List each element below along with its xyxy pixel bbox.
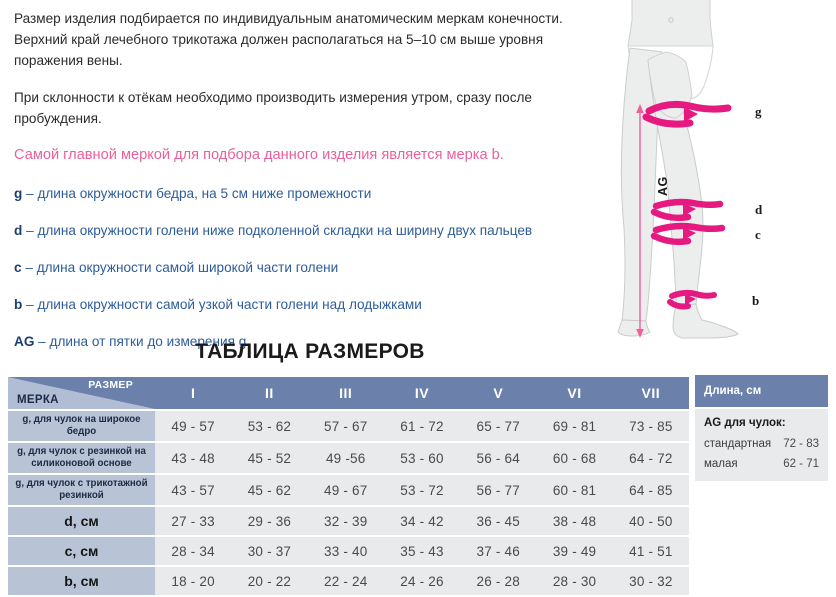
- cell-r4-c4: 37 - 46: [460, 537, 536, 565]
- cell-r0-c0: 49 - 57: [155, 411, 231, 441]
- cell-r1-c4: 56 - 64: [460, 443, 536, 473]
- definition-b: b – длина окружности самой узкой части г…: [14, 295, 614, 315]
- column-header-5: V: [460, 377, 536, 409]
- definition-g: g – длина окружности бедра, на 5 см ниже…: [14, 184, 614, 204]
- instructions-section: Размер изделия подбирается по индивидуал…: [0, 0, 836, 336]
- cell-r5-c3: 24 - 26: [384, 567, 460, 595]
- cell-r4-c2: 33 - 40: [308, 537, 384, 565]
- definition-c: c – длина окружности самой широкой части…: [14, 258, 614, 278]
- length-panel: Длина, см AG для чулок: стандартная 72 -…: [695, 375, 828, 481]
- row-label-g-wide-thigh: g, для чулок на широкое бедро: [8, 411, 155, 441]
- length-row-small: малая 62 - 71: [704, 458, 819, 470]
- row-label-c: c, см: [8, 537, 155, 565]
- cell-r5-c0: 18 - 20: [155, 567, 231, 595]
- table-row: g, для чулок с резинкой на силиконовой о…: [8, 443, 689, 473]
- cell-r1-c3: 53 - 60: [384, 443, 460, 473]
- cell-r3-c5: 38 - 48: [536, 507, 612, 535]
- definition-key-d: d: [14, 223, 22, 238]
- marker-label-g: g: [755, 104, 762, 120]
- marker-label-d: d: [755, 202, 762, 218]
- cell-r0-c3: 61 - 72: [384, 411, 460, 441]
- marker-label-c: c: [755, 227, 761, 243]
- left-foot-shape: [618, 320, 650, 336]
- torso-shape: [628, 0, 713, 46]
- cell-r1-c5: 60 - 68: [536, 443, 612, 473]
- length-label-small: малая: [704, 458, 738, 470]
- cell-r0-c4: 65 - 77: [460, 411, 536, 441]
- length-label-standard: стандартная: [704, 438, 771, 450]
- column-header-3: III: [308, 377, 384, 409]
- instructions-text-column: Размер изделия подбирается по индивидуал…: [14, 8, 614, 369]
- definition-dash-b: –: [26, 297, 34, 312]
- cell-r2-c5: 60 - 81: [536, 475, 612, 505]
- length-panel-body: AG для чулок: стандартная 72 - 83 малая …: [695, 409, 828, 481]
- definition-dash-c: –: [25, 260, 33, 275]
- cell-r2-c3: 53 - 72: [384, 475, 460, 505]
- cell-r5-c4: 26 - 28: [460, 567, 536, 595]
- cell-r0-c1: 53 - 62: [231, 411, 307, 441]
- length-row-standard: стандартная 72 - 83: [704, 438, 819, 450]
- cell-r5-c5: 28 - 30: [536, 567, 612, 595]
- column-header-2: II: [231, 377, 307, 409]
- corner-label-size: РАЗМЕР: [88, 379, 133, 391]
- table-row: d, см 27 - 33 29 - 36 32 - 39 34 - 42 36…: [8, 507, 689, 535]
- definition-d: d – длина окружности голени ниже подколе…: [14, 221, 614, 241]
- table-corner-cell: РАЗМЕР МЕРКА: [8, 377, 155, 409]
- length-panel-title: AG для чулок:: [704, 417, 819, 429]
- size-table: РАЗМЕР МЕРКА I II III IV V VI VII g, для…: [8, 375, 689, 597]
- column-header-6: VI: [536, 377, 612, 409]
- length-panel-header: Длина, см: [695, 375, 828, 407]
- marker-label-ag: AG: [656, 176, 670, 196]
- cell-r3-c2: 32 - 39: [308, 507, 384, 535]
- definition-text-g: длина окружности бедра, на 5 см ниже про…: [37, 186, 371, 201]
- cell-r4-c6: 41 - 51: [613, 537, 689, 565]
- row-label-b: b, см: [8, 567, 155, 595]
- definition-dash-d: –: [26, 223, 34, 238]
- cell-r3-c6: 40 - 50: [613, 507, 689, 535]
- cell-r4-c5: 39 - 49: [536, 537, 612, 565]
- table-row: b, см 18 - 20 20 - 22 22 - 24 24 - 26 26…: [8, 567, 689, 595]
- cell-r2-c1: 45 - 62: [231, 475, 307, 505]
- table-row: c, см 28 - 34 30 - 37 33 - 40 35 - 43 37…: [8, 537, 689, 565]
- key-measurement-note: Самой главной меркой для подбора данного…: [14, 145, 614, 166]
- definition-text-d: длина окружности голени ниже подколенной…: [37, 223, 532, 238]
- size-table-title: ТАБЛИЦА РАЗМЕРОВ: [0, 340, 620, 364]
- measurement-definitions-list: g – длина окружности бедра, на 5 см ниже…: [14, 184, 614, 352]
- cell-r3-c3: 34 - 42: [384, 507, 460, 535]
- cell-r3-c1: 29 - 36: [231, 507, 307, 535]
- cell-r4-c3: 35 - 43: [384, 537, 460, 565]
- cell-r4-c1: 30 - 37: [231, 537, 307, 565]
- column-header-7: VII: [613, 377, 689, 409]
- intro-paragraph-2: При склонности к отёкам необходимо произ…: [14, 87, 614, 129]
- marker-c-icon: [654, 226, 722, 242]
- cell-r1-c2: 49 -56: [308, 443, 384, 473]
- marker-label-b: b: [752, 293, 759, 309]
- cell-r4-c0: 28 - 34: [155, 537, 231, 565]
- definition-key-c: c: [14, 260, 22, 275]
- cell-r2-c4: 56 - 77: [460, 475, 536, 505]
- size-table-head: РАЗМЕР МЕРКА I II III IV V VI VII: [8, 377, 689, 409]
- cell-r3-c0: 27 - 33: [155, 507, 231, 535]
- length-value-standard: 72 - 83: [783, 438, 819, 450]
- size-table-header-row: РАЗМЕР МЕРКА I II III IV V VI VII: [8, 377, 689, 409]
- cell-r5-c6: 30 - 32: [613, 567, 689, 595]
- size-table-body: g, для чулок на широкое бедро 49 - 57 53…: [8, 411, 689, 595]
- row-label-g-knit-band: g, для чулок с трикотажной резинкой: [8, 475, 155, 505]
- table-row: g, для чулок на широкое бедро 49 - 57 53…: [8, 411, 689, 441]
- definition-key-b: b: [14, 297, 22, 312]
- length-value-small: 62 - 71: [783, 458, 819, 470]
- female-legs-diagram: [600, 0, 836, 340]
- cell-r0-c2: 57 - 67: [308, 411, 384, 441]
- leg-measurement-illustration: g d c b AG: [600, 0, 836, 340]
- cell-r5-c2: 22 - 24: [308, 567, 384, 595]
- definition-text-b: длина окружности самой узкой части голен…: [37, 297, 421, 312]
- column-header-4: IV: [384, 377, 460, 409]
- table-row: g, для чулок с трикотажной резинкой 43 -…: [8, 475, 689, 505]
- cell-r2-c2: 49 - 67: [308, 475, 384, 505]
- marker-d-icon: [654, 202, 720, 218]
- cell-r3-c4: 36 - 45: [460, 507, 536, 535]
- corner-label-measure: МЕРКА: [17, 394, 59, 406]
- definition-key-g: g: [14, 186, 22, 201]
- intro-paragraph-1: Размер изделия подбирается по индивидуал…: [14, 8, 614, 71]
- cell-r2-c0: 43 - 57: [155, 475, 231, 505]
- cell-r1-c0: 43 - 48: [155, 443, 231, 473]
- cell-r1-c6: 64 - 72: [613, 443, 689, 473]
- row-label-d: d, см: [8, 507, 155, 535]
- cell-r2-c6: 64 - 85: [613, 475, 689, 505]
- definition-text-c: длина окружности самой широкой части гол…: [37, 260, 339, 275]
- cell-r1-c1: 45 - 52: [231, 443, 307, 473]
- column-header-1: I: [155, 377, 231, 409]
- cell-r0-c6: 73 - 85: [613, 411, 689, 441]
- cell-r5-c1: 20 - 22: [231, 567, 307, 595]
- cell-r0-c5: 69 - 81: [536, 411, 612, 441]
- definition-dash-g: –: [26, 186, 34, 201]
- row-label-g-silicone-band: g, для чулок с резинкой на силиконовой о…: [8, 443, 155, 473]
